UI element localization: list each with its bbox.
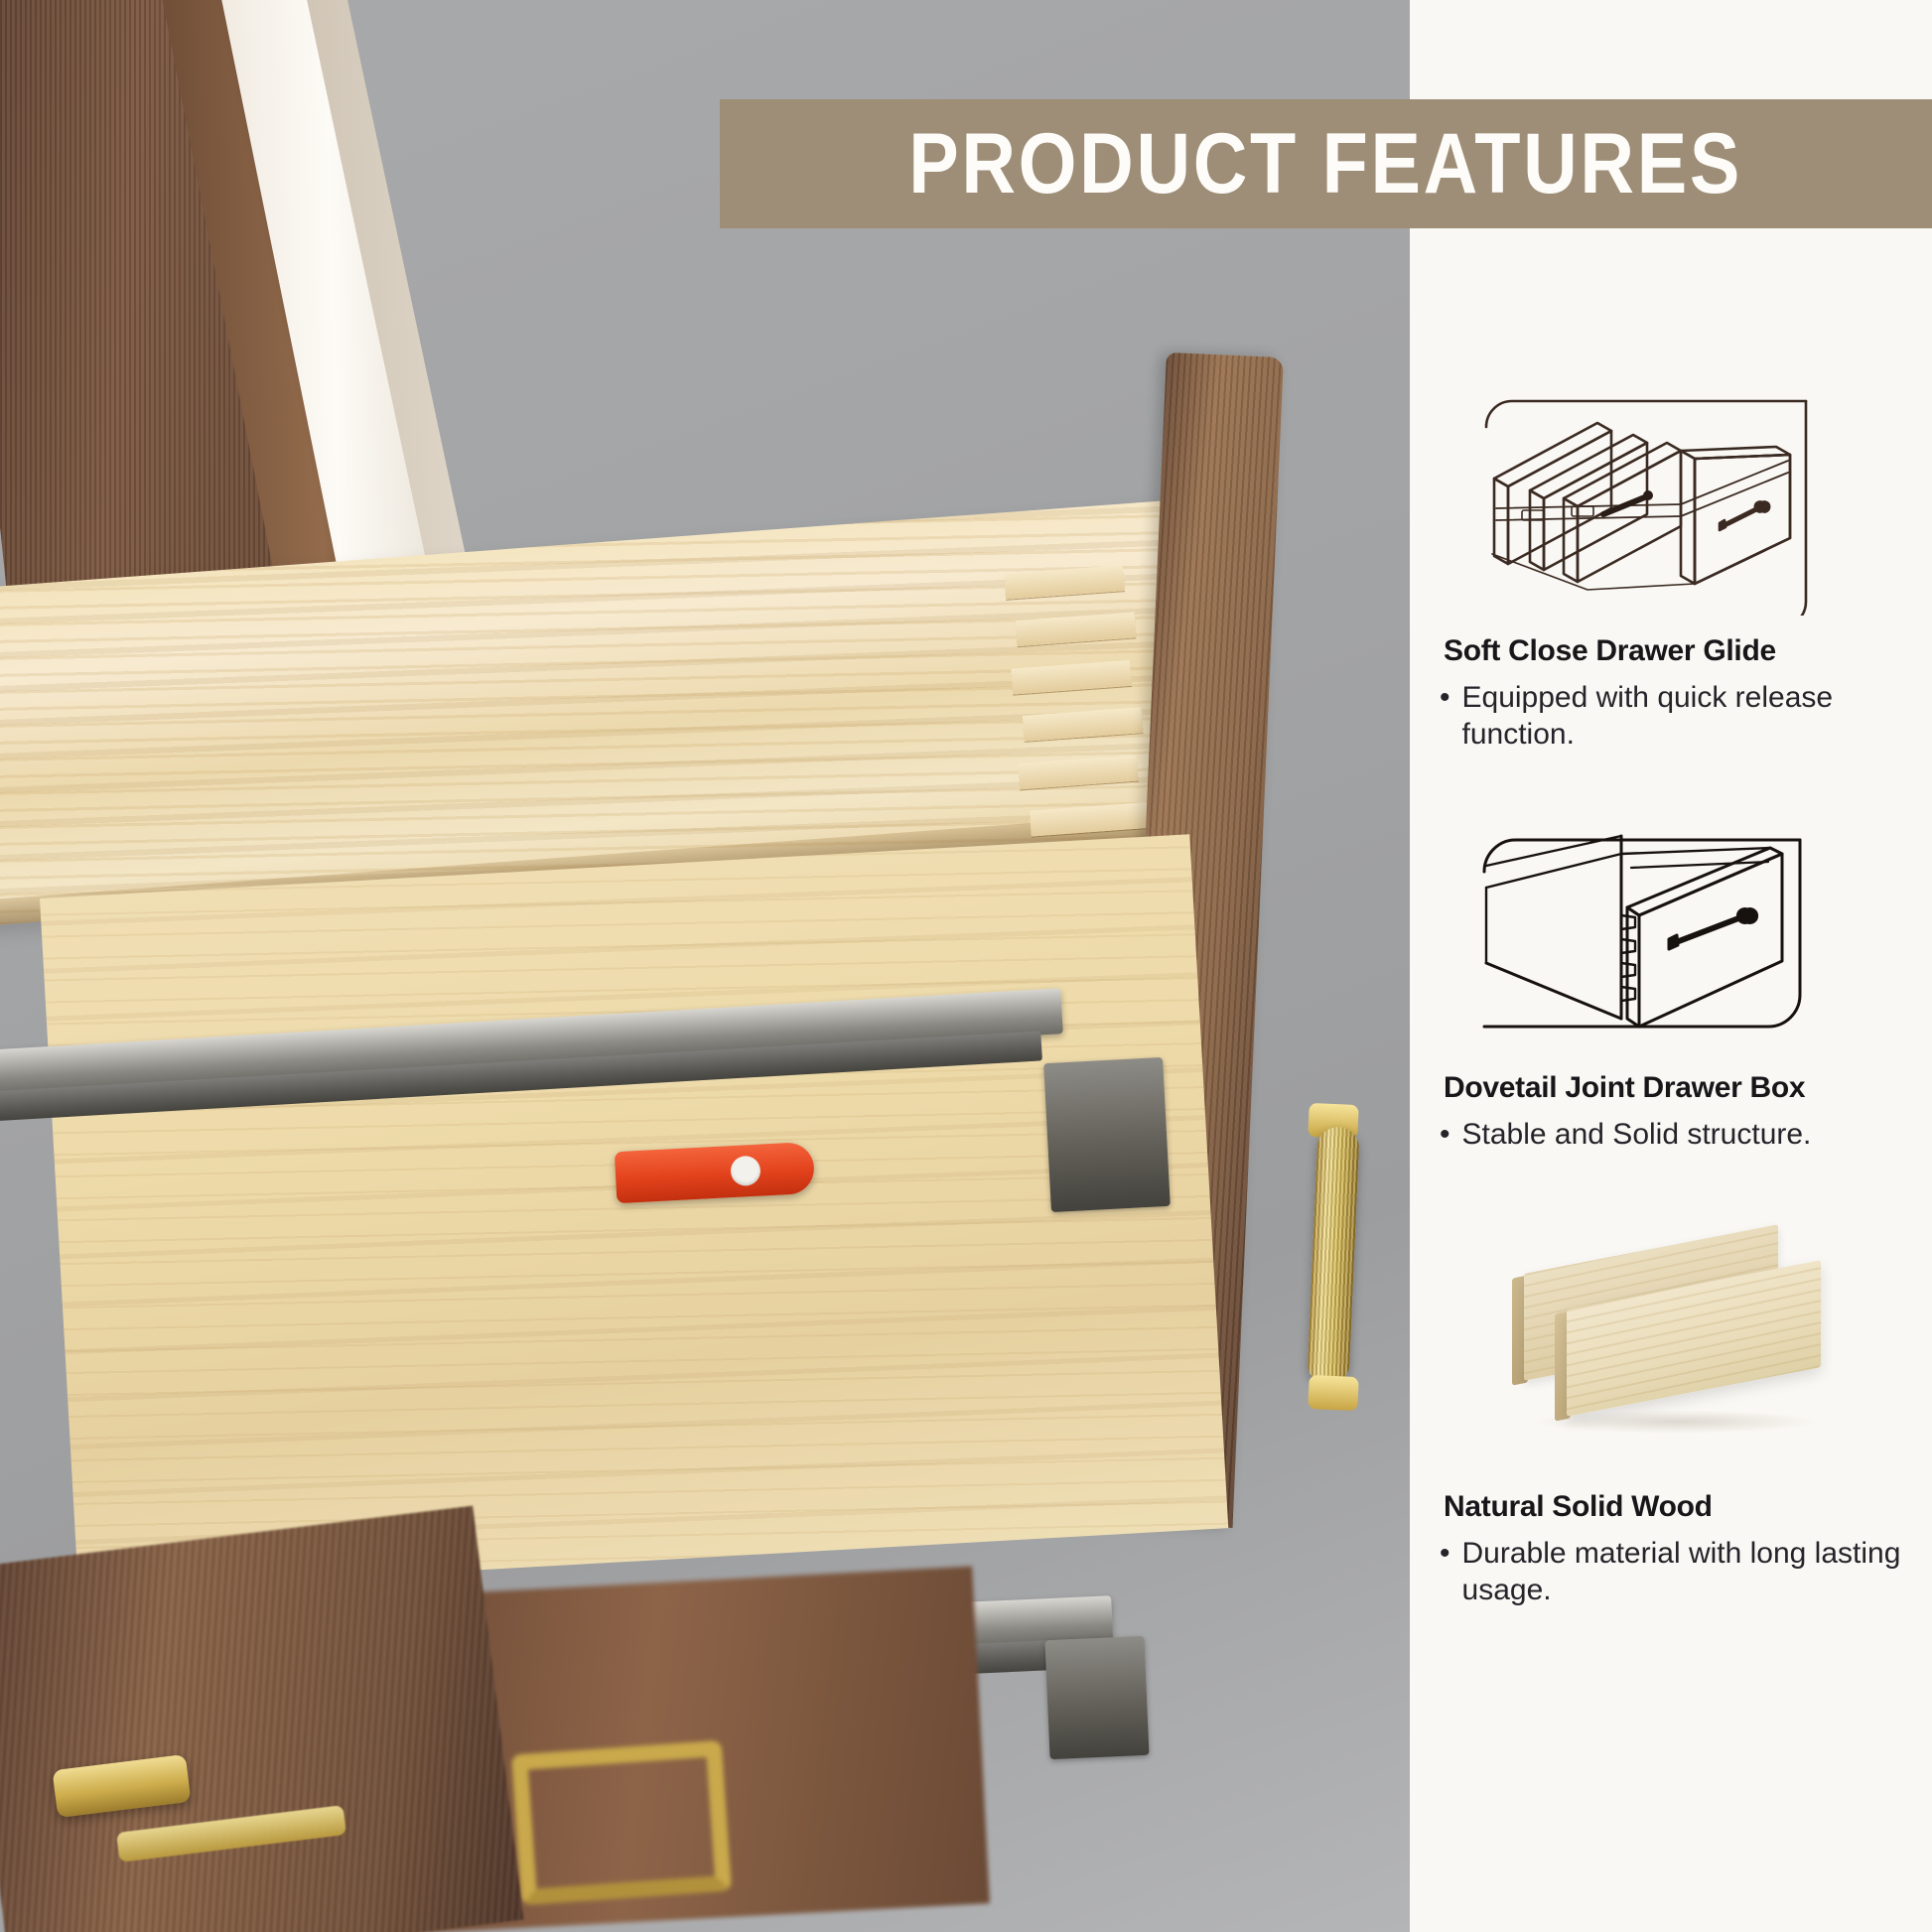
bullet-text: Equipped with quick release function.: [1462, 679, 1902, 753]
bullet-text: Stable and Solid structure.: [1462, 1116, 1812, 1153]
feature-item-dovetail-joint-drawer-box: Dovetail Joint Drawer Box • Stable and S…: [1410, 824, 1932, 1153]
feature-bullet: • Durable material with long lasting usa…: [1410, 1535, 1932, 1608]
bullet-marker: •: [1440, 679, 1450, 753]
dovetail-drawer-box-icon: [1472, 824, 1869, 1052]
feature-title: Natural Solid Wood: [1410, 1489, 1932, 1525]
background-brass-handle: [511, 1740, 732, 1905]
feature-bullet: • Equipped with quick release function.: [1410, 679, 1932, 753]
drawer-glide-icon: [1472, 387, 1869, 616]
feature-item-soft-close-drawer-glide: Soft Close Drawer Glide • Equipped with …: [1410, 387, 1932, 753]
features-panel: Soft Close Drawer Glide • Equipped with …: [1410, 0, 1932, 1932]
release-button-dot: [730, 1156, 761, 1187]
feature-title: Soft Close Drawer Glide: [1410, 633, 1932, 669]
slide-bracket-lower: [1044, 1636, 1149, 1759]
bullet-text: Durable material with long lasting usage…: [1462, 1535, 1902, 1608]
slide-bracket-upper: [1043, 1057, 1171, 1212]
quick-release-lever-upper: [615, 1142, 815, 1203]
feature-bullet: • Stable and Solid structure.: [1410, 1116, 1932, 1153]
maple-drawer-panel: [40, 834, 1228, 1592]
feature-item-natural-solid-wood: Natural Solid Wood • Durable material wi…: [1410, 1241, 1932, 1608]
brass-handle-cap-bottom: [1308, 1375, 1358, 1411]
wood-planks-icon: [1472, 1241, 1869, 1459]
bullet-marker: •: [1440, 1116, 1450, 1153]
product-photo: [0, 0, 1410, 1932]
page-title: PRODUCT FEATURES: [909, 115, 1743, 213]
bullet-marker: •: [1440, 1535, 1450, 1608]
foreground-drawer-front: [0, 1506, 523, 1932]
product-features-banner: PRODUCT FEATURES: [720, 99, 1932, 228]
infographic-canvas: Soft Close Drawer Glide • Equipped with …: [0, 0, 1932, 1932]
feature-title: Dovetail Joint Drawer Box: [1410, 1070, 1932, 1106]
